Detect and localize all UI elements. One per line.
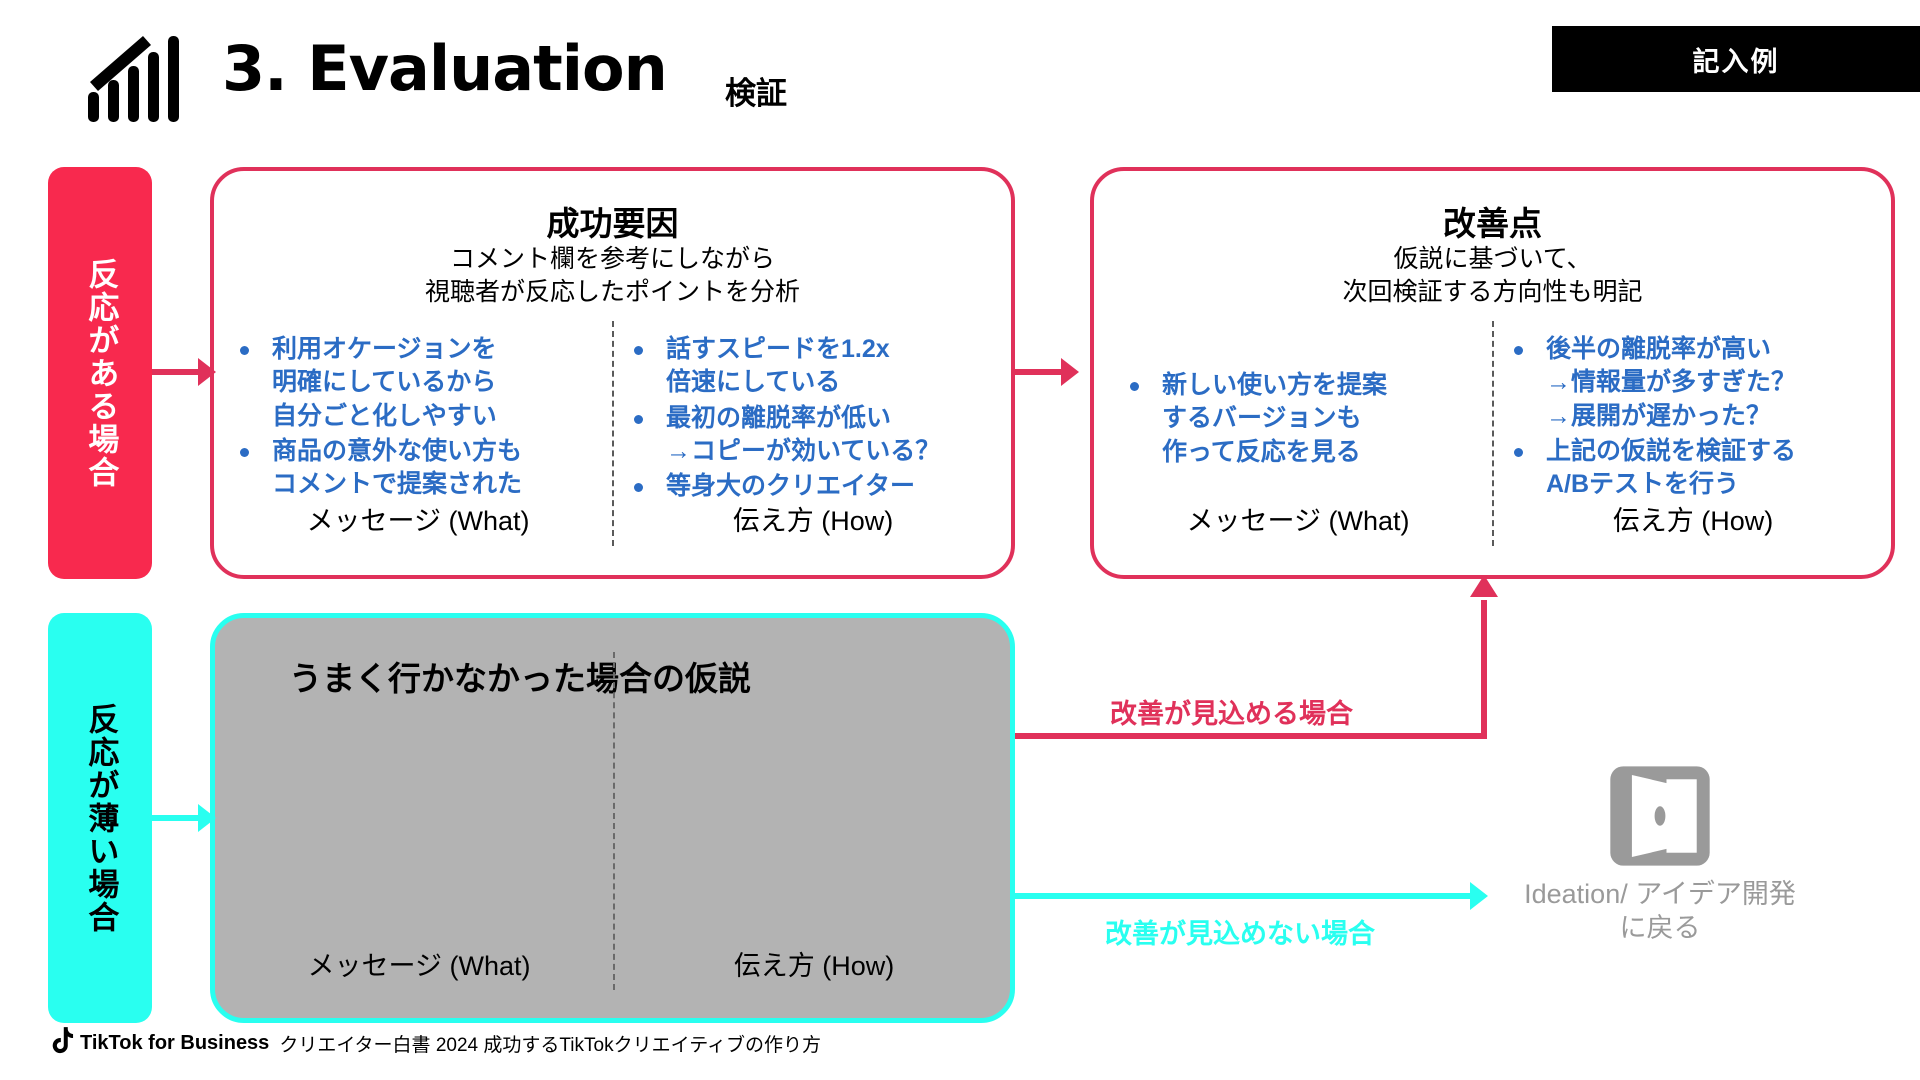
sidebar-item-weak-reaction[interactable]: 反応が薄い場合 <box>48 613 152 1023</box>
arrow-head-right <box>198 358 216 386</box>
card-failure-hypothesis[interactable]: うまく行かなかった場合の仮説 メッセージ (What) 伝え方 (How) <box>210 613 1015 1023</box>
footer: TikTok for Business クリエイター白書 2024 成功するTi… <box>50 1027 821 1060</box>
slide-root: 3. Evaluation 検証 記入例 反応がある場合 反応が薄い場合 成功要… <box>0 0 1920 1080</box>
column-label-what: メッセージ (What) <box>224 499 612 538</box>
column-label-how: 伝え方 (How) <box>1498 499 1888 538</box>
card-success-factors[interactable]: 成功要因 コメント欄を参考にしながら 視聴者が反応したポイントを分析 利用オケー… <box>210 167 1015 579</box>
connector-label-not-improvable: 改善が見込めない場合 <box>1105 912 1375 951</box>
column-label-how: 伝え方 (How) <box>618 499 1008 538</box>
sidebar-item-label: 反応がある場合 <box>83 258 118 489</box>
connector-not-improvable <box>1015 893 1480 899</box>
bullet-list-what: 利用オケージョンを 明確にしているから 自分ごと化しやすい 商品の意外な使い方も… <box>226 333 612 503</box>
ideation-return-block[interactable]: Ideation/ アイデア開発 に戻る <box>1510 762 1810 946</box>
arrow-head-right <box>198 804 216 832</box>
bullet-list-what: 新しい使い方を提案 するバージョンも 作って反応を見る <box>1116 369 1496 471</box>
card-title: 改善点 <box>1094 197 1891 245</box>
list-item: 話すスピードを1.2x 倍速にしている <box>620 333 1010 400</box>
page-title: 3. Evaluation <box>222 32 667 105</box>
sidebar-item-has-reaction[interactable]: 反応がある場合 <box>48 167 152 579</box>
sidebar-item-label: 反応が薄い場合 <box>83 703 118 934</box>
bar-chart-growth-icon <box>88 34 198 122</box>
footer-brand: TikTok for Business <box>80 1032 269 1055</box>
card-improvement-points[interactable]: 改善点 仮説に基づいて、 次回検証する方向性も明記 新しい使い方を提案 するバー… <box>1090 167 1895 579</box>
column-label-how: 伝え方 (How) <box>619 944 1009 983</box>
connector-improvable-horizontal <box>1015 733 1487 739</box>
list-item: 後半の離脱率が高い →情報量が多すぎた？ →展開が遅かった？ <box>1500 333 1892 433</box>
ideation-label: Ideation/ アイデア開発 に戻る <box>1510 878 1810 946</box>
status-badge: 記入例 <box>1552 26 1920 92</box>
footer-text: クリエイター白書 2024 成功するTikTokクリエイティブの作り方 <box>279 1030 821 1057</box>
list-item: 新しい使い方を提案 するバージョンも 作って反応を見る <box>1116 369 1496 469</box>
card-subtitle: コメント欄を参考にしながら 視聴者が反応したポイントを分析 <box>214 243 1011 308</box>
column-divider <box>612 321 614 546</box>
column-label-what: メッセージ (What) <box>1104 499 1492 538</box>
connector-label-improvable: 改善が見込める場合 <box>1110 692 1353 731</box>
list-item: 利用オケージョンを 明確にしているから 自分ごと化しやすい <box>226 333 612 433</box>
bullet-list-how: 後半の離脱率が高い →情報量が多すぎた？ →展開が遅かった？ 上記の仮説を検証す… <box>1500 333 1892 503</box>
bullet-list-how: 話すスピードを1.2x 倍速にしている 最初の離脱率が低い →コピーが効いている… <box>620 333 1010 505</box>
door-exit-icon <box>1510 762 1810 870</box>
card-subtitle: 仮説に基づいて、 次回検証する方向性も明記 <box>1094 243 1891 308</box>
arrow-head-right <box>1470 882 1488 910</box>
list-item: 最初の離脱率が低い →コピーが効いている？ <box>620 402 1010 469</box>
connector-improvable-vertical <box>1481 600 1487 739</box>
column-label-what: メッセージ (What) <box>225 944 613 983</box>
column-divider <box>613 652 615 990</box>
arrow-head-right <box>1061 358 1079 386</box>
page-title-jp: 検証 <box>725 68 787 113</box>
list-item: 上記の仮説を検証する A/Bテストを行う <box>1500 435 1892 502</box>
tiktok-note-icon <box>50 1027 76 1060</box>
list-item: 商品の意外な使い方も コメントで提案された <box>226 435 612 502</box>
arrow-head-up <box>1470 575 1498 597</box>
card-title: 成功要因 <box>214 197 1011 245</box>
card-title: うまく行かなかった場合の仮説 <box>289 652 751 700</box>
